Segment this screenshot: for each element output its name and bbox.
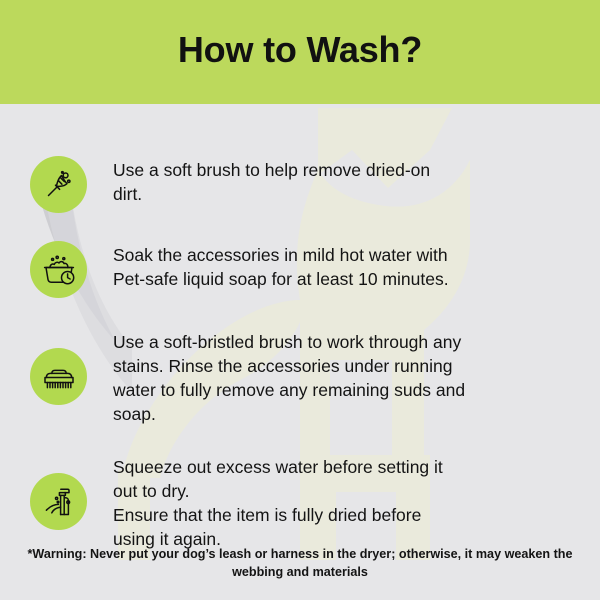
step-text: Use a soft-bristled brush to work throug… bbox=[113, 326, 531, 427]
scrub-brush-icon bbox=[41, 359, 77, 395]
header-band: How to Wash? bbox=[0, 0, 600, 104]
warning-line-1: *Warning: Never put your dog’s leash or … bbox=[12, 546, 588, 564]
step-icon-circle bbox=[30, 348, 87, 405]
warning-note: *Warning: Never put your dog’s leash or … bbox=[0, 546, 600, 582]
warning-line-2: webbing and materials bbox=[12, 564, 588, 582]
steps-list: Use a soft brush to help remove dried-on… bbox=[0, 104, 600, 551]
page-title: How to Wash? bbox=[178, 32, 422, 72]
soap-dispenser-hand-icon bbox=[42, 484, 76, 518]
step-text: Squeeze out excess water before setting … bbox=[113, 451, 531, 552]
step-icon-circle bbox=[30, 241, 87, 298]
step-icon-circle bbox=[30, 156, 87, 213]
step-item: Soak the accessories in mild hot water w… bbox=[0, 239, 600, 298]
step-icon-circle bbox=[30, 473, 87, 530]
infographic-card: How to Wash? bbox=[0, 0, 600, 600]
step-text: Use a soft brush to help remove dried-on… bbox=[113, 154, 531, 206]
wash-basin-clock-icon bbox=[41, 252, 77, 288]
step-text: Soak the accessories in mild hot water w… bbox=[113, 239, 531, 291]
step-item: Squeeze out excess water before setting … bbox=[0, 451, 600, 552]
feather-duster-icon bbox=[42, 168, 76, 202]
step-item: Use a soft brush to help remove dried-on… bbox=[0, 154, 600, 213]
step-item: Use a soft-bristled brush to work throug… bbox=[0, 326, 600, 427]
